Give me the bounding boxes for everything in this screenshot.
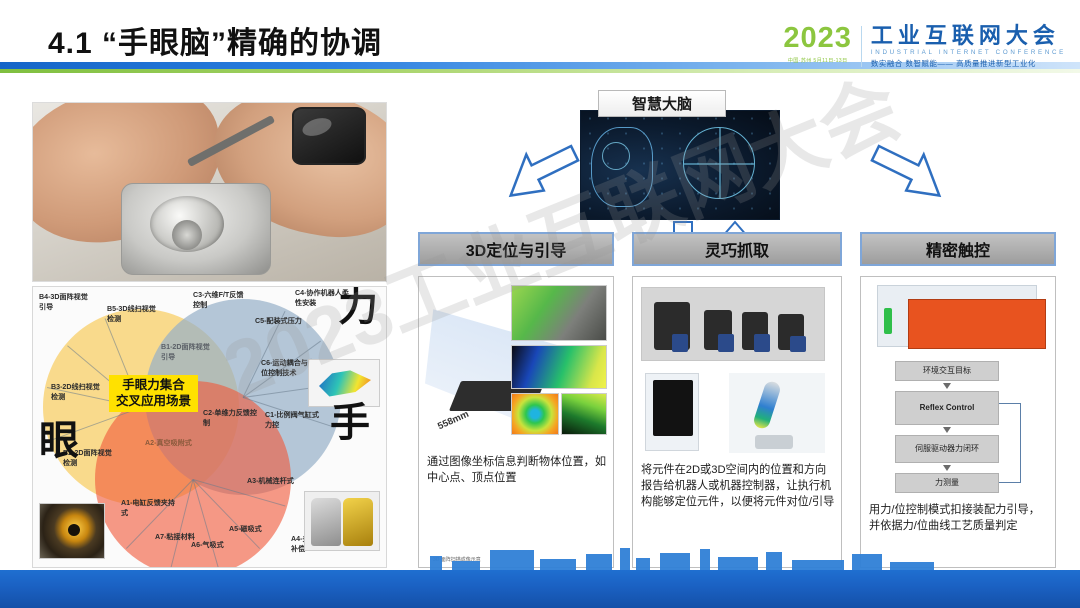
- controller-device-photo: [877, 285, 1037, 347]
- venn-label-C6: C6-运动耦合与力位控制技术: [261, 359, 315, 378]
- venn-diagram: B4-3D面阵视觉引导 B5-3D线扫视觉检测 B3-2D线扫视觉检测 B2-2…: [32, 286, 387, 568]
- venn-center-label: 手眼力集合 交叉应用场景: [109, 375, 198, 412]
- robot-hands-photo: [304, 491, 380, 551]
- gripper-base-shape: [790, 336, 806, 352]
- venn-label-A1: A1-电缸反馈夹持式: [121, 499, 175, 518]
- watch-assembly-photo: [32, 102, 387, 282]
- flow-arrow-icon: [943, 383, 951, 389]
- venn-center-line1: 手眼力集合: [122, 378, 185, 392]
- scan-thumb-depth-1: [511, 285, 607, 341]
- venn-label-A2: A2-真空吸附式: [145, 439, 199, 449]
- venn-label-C1: C1-比例阀气缸式力控: [265, 411, 319, 430]
- panel-title-dexterous-grasping[interactable]: 灵巧抓取: [632, 232, 842, 266]
- flow-node-0: 环境交互目标: [895, 361, 999, 381]
- flow-node-3: 力测量: [895, 473, 999, 493]
- panel-caption-3d-positioning: 通过图像坐标信息判断物体位置，如中心点、顶点位置: [427, 455, 607, 487]
- page-title: 4.1 “手眼脑”精确的协调: [48, 18, 382, 62]
- logo-name-en: INDUSTRIAL INTERNET CONFERENCE: [871, 49, 1066, 56]
- title-rule-green: [0, 69, 1080, 73]
- arrow-brain-to-right: [860, 134, 960, 204]
- panel-body-3d-positioning: 558mm 422mm 3D 面阵扫描成像示意 通过图像坐标信息判断物体位置，如…: [418, 276, 614, 568]
- gripper-base-shape: [672, 334, 688, 352]
- big-char-force: 力: [338, 287, 378, 327]
- venn-stage: B4-3D面阵视觉引导 B5-3D线扫视觉检测 B3-2D线扫视觉检测 B2-2…: [33, 287, 386, 567]
- scan-width-label: 558mm: [436, 409, 470, 432]
- scan-thumb-depth-3: [511, 393, 559, 435]
- venn-label-B3: B3-2D线扫视觉检测: [51, 383, 105, 402]
- venn-label-A5: A5-磁吸式: [229, 525, 283, 535]
- venn-label-B4: B4-3D面阵视觉引导: [39, 293, 93, 312]
- logo-year: 2023: [783, 24, 852, 53]
- venn-label-B1: B1-2D面阵视觉引导: [161, 343, 215, 362]
- owl-eye-photo: [39, 503, 105, 559]
- gripper-lineup-photo: [641, 287, 825, 361]
- logo-name-block: 工业互联网大会 INDUSTRIAL INTERNET CONFERENCE 数…: [862, 24, 1066, 69]
- flow-feedback-loop: [999, 403, 1021, 483]
- panel-caption-dexterous-grasping: 将元件在2D或3D空间内的位置和方向报告给机器人或机器控制器，让执行机构能够定位…: [641, 463, 835, 511]
- gripper-base-shape: [718, 334, 734, 352]
- panel-title-precision-touch[interactable]: 精密触控: [860, 232, 1056, 266]
- venn-label-A3: A3-机械连杆式: [247, 477, 301, 487]
- panel-title-3d-positioning[interactable]: 3D定位与引导: [418, 232, 614, 266]
- logo-tagline: 数实融合 数智赋能—— 高质量推进新型工业化: [871, 58, 1066, 69]
- footer-banner: [0, 570, 1080, 608]
- venn-center-line2: 交叉应用场景: [116, 394, 191, 408]
- slide-body: 2023工业互联网大会: [0, 76, 1080, 574]
- logo-date: 中国·苏州 5月11日-13日: [783, 57, 852, 64]
- scan-thumb-depth-2: [511, 345, 607, 389]
- flow-arrow-icon: [943, 465, 951, 471]
- big-char-hand: 手: [330, 403, 370, 443]
- conference-logo: 2023 中国·苏州 5月11日-13日 工业互联网大会 INDUSTRIAL …: [783, 24, 1066, 69]
- robot-arm-fea-photo: [308, 359, 380, 407]
- venn-label-C3: C3-六维F/T反馈控制: [193, 291, 247, 310]
- logo-name-cn: 工业互联网大会: [871, 24, 1066, 47]
- slide-root: 4.1 “手眼脑”精确的协调 2023 中国·苏州 5月11日-13日 工业互联…: [0, 0, 1080, 608]
- venn-label-A6: A6-气吸式: [191, 541, 245, 551]
- watch-movement-shape: [121, 183, 271, 275]
- smart-brain-label: 智慧大脑: [598, 90, 726, 117]
- brain-head-icon: [591, 127, 653, 207]
- venn-label-C5: C5-配装式压力: [255, 317, 309, 327]
- loupe-icon: [292, 107, 366, 165]
- big-char-eye: 眼: [39, 421, 79, 461]
- force-sensor-photo: [645, 373, 699, 451]
- city-skyline: [0, 546, 1080, 570]
- panel-body-dexterous-grasping: 将元件在2D或3D空间内的位置和方向报告给机器人或机器控制器，让执行机构能够定位…: [632, 276, 842, 568]
- robot-arm-simulation-photo: [729, 373, 825, 453]
- flow-node-2: 伺服驱动器力闭环: [895, 435, 999, 463]
- gripper-base-shape: [754, 334, 770, 352]
- globe-icon: [683, 127, 755, 199]
- venn-label-B5: B5-3D线扫视觉检测: [107, 305, 161, 324]
- flow-node-1: Reflex Control: [895, 391, 999, 425]
- scan-thumb-depth-4: [561, 393, 607, 435]
- status-led: [884, 308, 892, 334]
- venn-label-C2: C2-单维力反馈控制: [203, 409, 257, 428]
- panel-body-precision-touch: 环境交互目标 Reflex Control 伺服驱动器力闭环 力测量 用力/位控…: [860, 276, 1056, 568]
- logo-year-block: 2023 中国·苏州 5月11日-13日: [783, 24, 861, 64]
- arrow-brain-to-left: [490, 134, 590, 204]
- smart-brain-image: [580, 110, 780, 220]
- flow-arrow-icon: [943, 427, 951, 433]
- controller-front-panel: [908, 299, 1046, 349]
- panel-caption-precision-touch: 用力/位控制模式扣接装配力引导，并依据力/位曲线工艺质量判定: [869, 503, 1049, 535]
